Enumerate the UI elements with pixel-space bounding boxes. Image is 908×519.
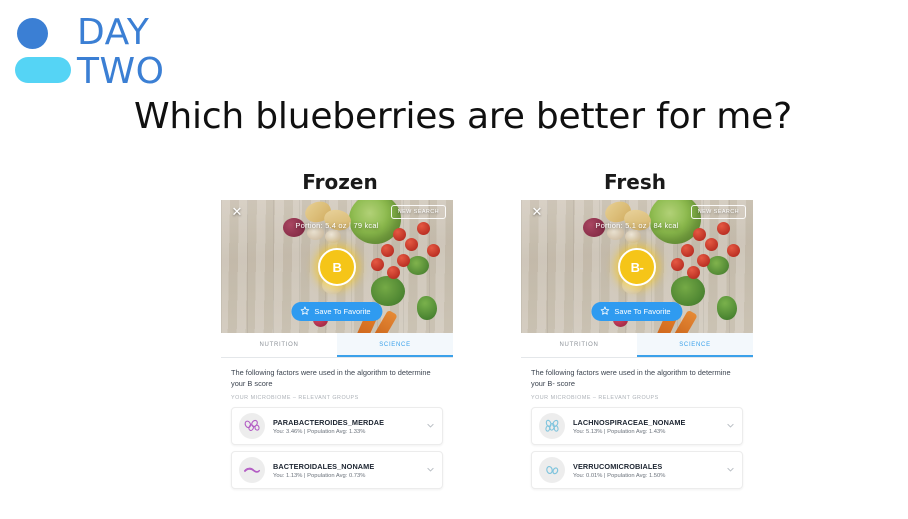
list-item[interactable]: LACHNOSPIRACEAE_NONAME You: 5.13% | Popu… [531, 407, 743, 445]
bacteria-list: PARABACTEROIDES_MERDAE You: 3.46% | Popu… [231, 407, 443, 489]
food-photo: ✕ NEW SEARCH Portion: 5.4 oz | 79 kcal B… [221, 200, 453, 333]
bacteria-icon [239, 457, 265, 483]
tab-nutrition[interactable]: NUTRITION [521, 333, 637, 357]
column-heading-fresh: Fresh [535, 170, 735, 194]
bacteria-icon [539, 413, 565, 439]
bacteria-stats: You: 0.01% | Population Avg: 1.50% [573, 473, 722, 479]
logo-text-two: TWO [77, 54, 164, 90]
bacteria-text: VERRUCOMICROBIALES You: 0.01% | Populati… [573, 462, 722, 479]
new-search-button[interactable]: NEW SEARCH [391, 205, 446, 219]
grade-badge: B- [618, 248, 656, 286]
tab-science[interactable]: SCIENCE [337, 333, 453, 357]
card-body: The following factors were used in the a… [221, 358, 453, 489]
portion-info: Portion: 5.1 oz | 84 kcal [521, 221, 753, 230]
daytwo-logo: DAY TWO [12, 10, 212, 88]
chevron-down-icon[interactable] [426, 461, 435, 479]
star-icon [300, 306, 309, 317]
card-body: The following factors were used in the a… [521, 358, 753, 489]
bacteria-name: VERRUCOMICROBIALES [573, 462, 722, 471]
bacteria-list: LACHNOSPIRACEAE_NONAME You: 5.13% | Popu… [531, 407, 743, 489]
chevron-down-icon[interactable] [726, 461, 735, 479]
save-to-favorite-label: Save To Favorite [314, 307, 370, 316]
bacteria-stats: You: 5.13% | Population Avg: 1.43% [573, 429, 722, 435]
microbiome-section-label: YOUR MICROBIOME – RELEVANT GROUPS [231, 395, 443, 401]
star-icon [600, 306, 609, 317]
chevron-down-icon[interactable] [726, 417, 735, 435]
list-item[interactable]: VERRUCOMICROBIALES You: 0.01% | Populati… [531, 451, 743, 489]
list-item[interactable]: BACTEROIDALES_NONAME You: 1.13% | Popula… [231, 451, 443, 489]
column-heading-frozen: Frozen [240, 170, 440, 194]
bacteria-text: BACTEROIDALES_NONAME You: 1.13% | Popula… [273, 462, 422, 479]
algorithm-description: The following factors were used in the a… [231, 368, 443, 389]
bacteria-name: PARABACTEROIDES_MERDAE [273, 418, 422, 427]
chevron-down-icon[interactable] [426, 417, 435, 435]
bacteria-stats: You: 3.46% | Population Avg: 1.33% [273, 429, 422, 435]
algorithm-description: The following factors were used in the a… [531, 368, 743, 389]
app-card-frozen: ✕ NEW SEARCH Portion: 5.4 oz | 79 kcal B… [221, 200, 453, 497]
bacteria-icon [239, 413, 265, 439]
tab-bar: NUTRITION SCIENCE [221, 333, 453, 358]
tab-science[interactable]: SCIENCE [637, 333, 753, 357]
close-icon[interactable]: ✕ [530, 206, 544, 220]
close-icon[interactable]: ✕ [230, 206, 244, 220]
bacteria-name: LACHNOSPIRACEAE_NONAME [573, 418, 722, 427]
food-photo: ✕ NEW SEARCH Portion: 5.1 oz | 84 kcal B… [521, 200, 753, 333]
logo-dot-icon [17, 18, 48, 49]
app-card-fresh: ✕ NEW SEARCH Portion: 5.1 oz | 84 kcal B… [521, 200, 753, 497]
new-search-button[interactable]: NEW SEARCH [691, 205, 746, 219]
save-to-favorite-button[interactable]: Save To Favorite [591, 302, 682, 321]
grade-badge: B [318, 248, 356, 286]
microbiome-section-label: YOUR MICROBIOME – RELEVANT GROUPS [531, 395, 743, 401]
bacteria-stats: You: 1.13% | Population Avg: 0.73% [273, 473, 422, 479]
bacteria-name: BACTEROIDALES_NONAME [273, 462, 422, 471]
list-item[interactable]: PARABACTEROIDES_MERDAE You: 3.46% | Popu… [231, 407, 443, 445]
tab-nutrition[interactable]: NUTRITION [221, 333, 337, 357]
portion-info: Portion: 5.4 oz | 79 kcal [221, 221, 453, 230]
page-title: Which blueberries are better for me? [0, 96, 908, 137]
save-to-favorite-label: Save To Favorite [614, 307, 670, 316]
logo-text-day: DAY [77, 15, 149, 51]
bacteria-icon [539, 457, 565, 483]
save-to-favorite-button[interactable]: Save To Favorite [291, 302, 382, 321]
logo-pill-icon [15, 57, 71, 83]
bacteria-text: LACHNOSPIRACEAE_NONAME You: 5.13% | Popu… [573, 418, 722, 435]
tab-bar: NUTRITION SCIENCE [521, 333, 753, 358]
bacteria-text: PARABACTEROIDES_MERDAE You: 3.46% | Popu… [273, 418, 422, 435]
